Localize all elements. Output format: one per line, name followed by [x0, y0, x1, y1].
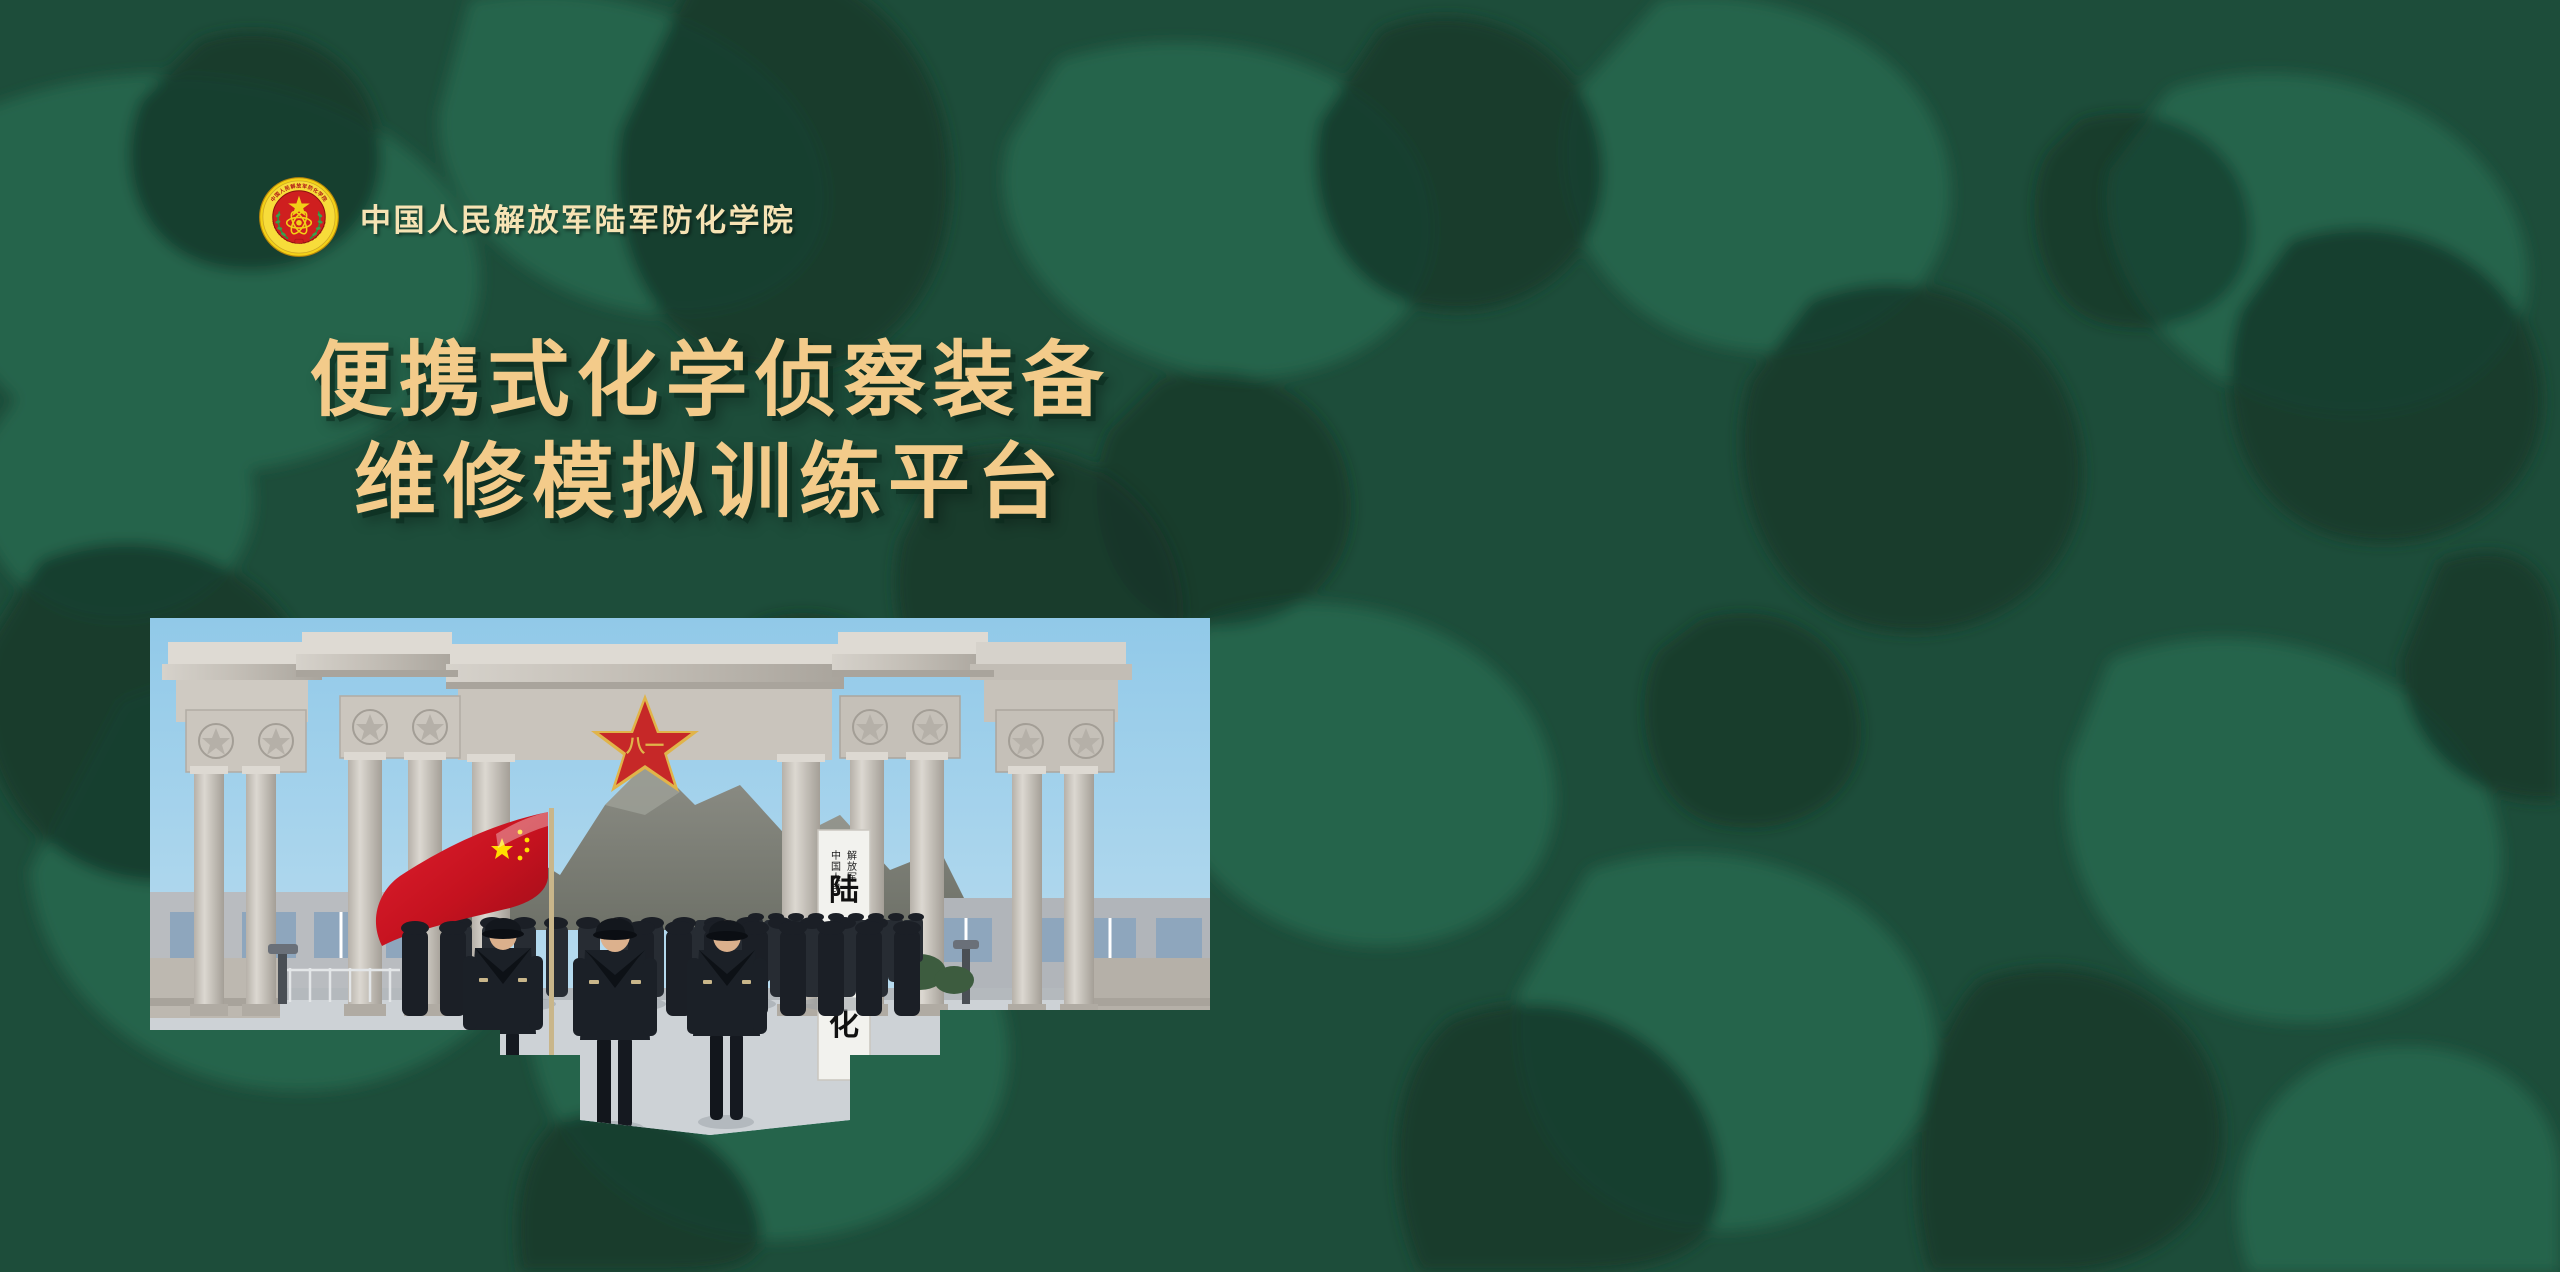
brand-header: 中国人民解放军防化学院 INSTITUTE OF NBC DEFENSE [258, 176, 796, 258]
campus-gate-formation-photo: 八一 [150, 600, 1210, 1160]
institution-name: 中国人民解放军陆军防化学院 [360, 195, 796, 240]
svg-text:陆: 陆 [829, 874, 859, 907]
svg-text:八一: 八一 [626, 736, 664, 757]
splash-screen: 中国人民解放军防化学院 INSTITUTE OF NBC DEFENSE [0, 0, 2560, 1272]
nbc-defense-institute-emblem-icon: 中国人民解放军防化学院 INSTITUTE OF NBC DEFENSE [258, 176, 340, 258]
